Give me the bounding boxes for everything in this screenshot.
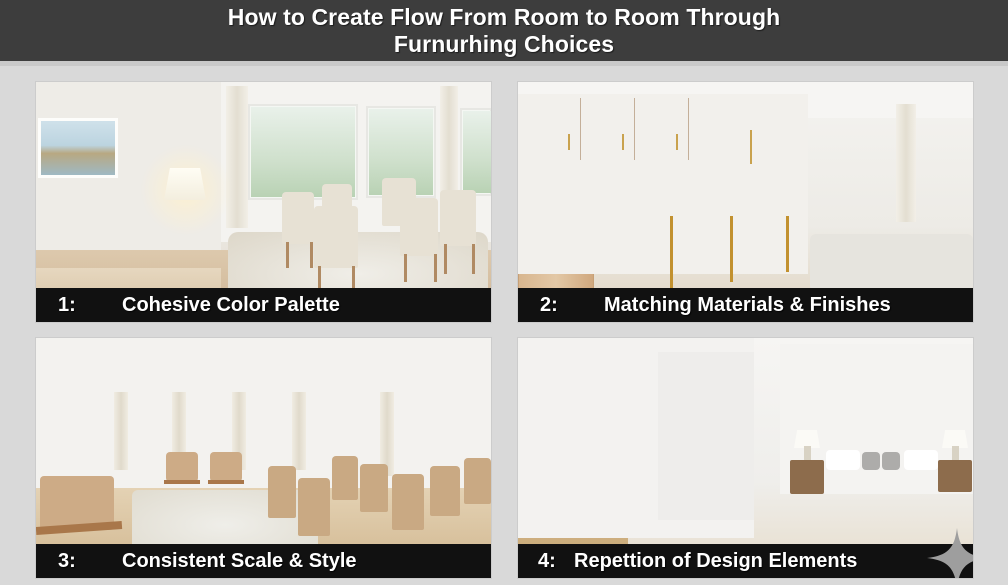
tip-image-2: [518, 82, 973, 322]
dining-chair-6: [268, 466, 296, 518]
bedside-lamp-left-base: [804, 446, 811, 460]
page-title: How to Create Flow From Room to Room Thr…: [168, 4, 841, 58]
bar-leg: [730, 216, 733, 282]
dining-chair-3: [392, 474, 424, 530]
scene-kitchen-living: [518, 82, 973, 322]
cabinet-handle-icon: [676, 134, 678, 150]
tip-image-3: [36, 338, 491, 578]
tip-label-3: Consistent Scale & Style: [122, 550, 357, 573]
armchair-2-wood-frame: [208, 480, 244, 484]
cabinet-handle-icon: [622, 134, 624, 150]
chair-leg: [472, 244, 475, 274]
tip-card-1[interactable]: 1: Cohesive Color Palette: [36, 82, 491, 322]
table-lamp-shade-icon: [164, 168, 206, 200]
chair-leg: [404, 254, 407, 282]
cabinet-handle-icon: [750, 130, 752, 164]
chair-leg: [310, 242, 313, 268]
armchair-1: [166, 452, 198, 482]
tip-number-2: 2:: [518, 294, 604, 317]
tip-label-4: Repettion of Design Elements: [574, 550, 857, 573]
dining-chair-7: [298, 478, 330, 536]
curtain-panel: [114, 392, 128, 470]
pillow-2: [904, 450, 938, 470]
tip-caption-3: 3: Consistent Scale & Style: [36, 544, 491, 578]
dining-chair-5: [464, 458, 491, 504]
back-wall: [36, 338, 491, 488]
tip-image-1: [36, 82, 491, 322]
dining-chair-1: [282, 192, 314, 244]
scene-hall-bedroom: [518, 338, 973, 578]
bar-leg: [670, 216, 673, 288]
scene-open-plan: [36, 338, 491, 578]
window-3-glass: [463, 111, 491, 193]
living-curtain: [896, 104, 916, 222]
armchair-2: [210, 452, 242, 482]
chair-leg: [434, 254, 437, 282]
kitchen-wall: [518, 94, 808, 274]
accent-cushion-1: [862, 452, 880, 470]
tips-grid: 1: Cohesive Color Palette: [36, 82, 973, 578]
dining-chair-3: [314, 206, 358, 268]
tip-card-4[interactable]: 4: Repettion of Design Elements: [518, 338, 973, 578]
tip-card-3[interactable]: 3: Consistent Scale & Style: [36, 338, 491, 578]
dining-chair-4: [430, 466, 460, 516]
curtain-left: [226, 86, 248, 228]
dining-chair-1: [332, 456, 358, 500]
tip-card-2[interactable]: 2: Matching Materials & Finishes: [518, 82, 973, 322]
tip-label-2: Matching Materials & Finishes: [604, 294, 891, 317]
tip-caption-2: 2: Matching Materials & Finishes: [518, 288, 973, 322]
page-title-line-2: Furnurhing Choices: [394, 31, 614, 57]
curtain-panel: [292, 392, 306, 470]
slide-page: How to Create Flow From Room to Room Thr…: [0, 0, 1008, 585]
armchair-1-wood-frame: [164, 480, 200, 484]
cabinet-seam: [688, 98, 689, 160]
page-title-line-1: How to Create Flow From Room to Room Thr…: [228, 4, 781, 30]
nightstand-right: [938, 460, 972, 492]
tip-caption-4: 4: Repettion of Design Elements: [518, 544, 973, 578]
tip-number-4: 4:: [518, 550, 574, 573]
tip-number-3: 3:: [36, 550, 122, 573]
bar-leg: [786, 216, 789, 272]
tip-caption-1: 1: Cohesive Color Palette: [36, 288, 491, 322]
accent-cushion-2: [882, 452, 900, 470]
slide-header: How to Create Flow From Room to Room Thr…: [0, 0, 1008, 61]
scene-living-dining: [36, 82, 491, 322]
dining-chair-2: [360, 464, 388, 512]
nightstand-left: [790, 460, 824, 494]
cabinet-seam: [580, 98, 581, 160]
dining-chair-6: [440, 190, 476, 246]
cabinet-handle-icon: [568, 134, 570, 150]
bedside-lamp-right-base: [952, 446, 959, 460]
cabinet-seam: [634, 98, 635, 160]
tip-label-1: Cohesive Color Palette: [122, 294, 340, 317]
hall-wall-far: [658, 352, 754, 520]
pillow-1: [826, 450, 860, 470]
tip-number-1: 1:: [36, 294, 122, 317]
framed-artwork-icon: [38, 118, 118, 178]
chair-leg: [444, 244, 447, 274]
living-rug: [810, 234, 973, 292]
chair-leg: [286, 242, 289, 268]
tip-image-4: [518, 338, 973, 578]
header-underline: [0, 61, 1008, 66]
dining-chair-5: [400, 198, 438, 256]
